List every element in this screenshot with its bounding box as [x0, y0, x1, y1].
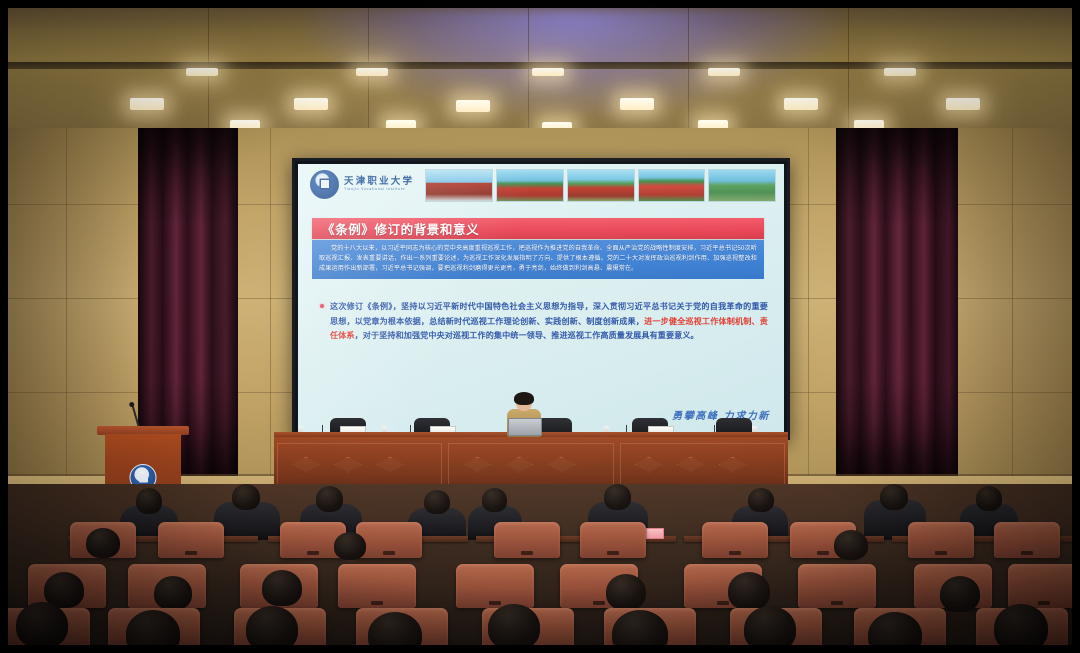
campus-photo-strip	[425, 169, 784, 200]
ceiling-lamp	[946, 98, 980, 110]
university-name-cn: 天津职业大学	[344, 177, 414, 187]
ceiling-lamp	[884, 68, 916, 76]
audience-head	[834, 530, 868, 560]
ceiling-seam	[848, 8, 849, 140]
head-table	[274, 432, 788, 492]
audience-head	[232, 484, 260, 510]
audience-head	[246, 606, 298, 645]
slide-title: 《条例》修订的背景和意义	[312, 219, 479, 238]
audience-seat	[994, 522, 1060, 558]
stage-curtain-left	[138, 128, 238, 476]
ceiling	[8, 8, 1072, 140]
audience-head	[86, 528, 120, 558]
slide-bullet-text: 这次修订《条例》，坚持以习近平新时代中国特色社会主义思想为指导，深入贯彻习近平总…	[330, 300, 768, 344]
ceiling-seam	[688, 8, 689, 140]
ceiling-lamp	[708, 68, 740, 76]
campus-photo-4	[638, 169, 706, 202]
audience-seat	[702, 522, 768, 558]
audience-head	[744, 606, 796, 645]
slide-intro-paragraph: 党的十八大以来，以习近平同志为核心的党中央高度重视巡视工作，把巡视作为推进党的自…	[319, 244, 757, 274]
audience-seat	[356, 522, 422, 558]
university-crest-icon	[310, 170, 339, 199]
slide-header: 天津职业大学 Tianjin Vocational Institute	[298, 164, 784, 204]
audience-head	[606, 574, 646, 610]
audience-area	[8, 484, 1072, 645]
bullet-segment-3: ，对于坚持和加强党中央对巡视工作的集中统一领导、推进巡视工作高质量发展具有重要意…	[355, 331, 699, 340]
presenter-hair	[514, 392, 534, 405]
audience-head	[488, 604, 540, 645]
university-name-en: Tianjin Vocational Institute	[344, 187, 414, 191]
ceiling-lamp	[130, 98, 164, 110]
presenter	[505, 394, 543, 438]
head-table-panel	[448, 443, 613, 486]
slide-bullet-block: 这次修订《条例》，坚持以习近平新时代中国特色社会主义思想为指导，深入贯彻习近平总…	[320, 300, 768, 344]
audience-seat	[580, 522, 646, 558]
ceiling-lamp	[294, 98, 328, 110]
stage-curtain-right	[836, 128, 958, 476]
campus-photo-5	[708, 169, 776, 202]
audience-head	[424, 490, 450, 514]
audience-head	[880, 484, 908, 510]
head-table-panel	[277, 443, 442, 486]
audience-head	[482, 488, 507, 512]
head-table-panel	[620, 443, 785, 486]
audience-seat	[338, 564, 416, 608]
ceiling-lamp	[784, 98, 818, 110]
audience-head	[748, 488, 774, 512]
audience-head	[604, 484, 631, 510]
audience-seat	[456, 564, 534, 608]
audience-nameplate	[646, 528, 664, 539]
auditorium-room: 天津职业大学 Tianjin Vocational Institute 《条例》…	[8, 8, 1072, 645]
ceiling-lamp	[456, 100, 490, 112]
ceiling-lamp	[186, 68, 218, 76]
audience-seat	[908, 522, 974, 558]
audience-head	[262, 570, 302, 606]
audience-seat	[494, 522, 560, 558]
slide-title-banner: 《条例》修订的背景和意义	[312, 218, 764, 239]
audience-head	[940, 576, 980, 612]
audience-head	[316, 486, 343, 512]
wall-seam	[270, 128, 271, 478]
audience-head	[136, 488, 162, 514]
campus-photo-3	[567, 169, 635, 202]
audience-head	[728, 572, 770, 610]
screenshot-root: 天津职业大学 Tianjin Vocational Institute 《条例》…	[0, 0, 1080, 653]
audience-seat	[798, 564, 876, 608]
screen-glare	[298, 164, 590, 434]
presenter-laptop	[508, 418, 542, 436]
slide-intro-box: 党的十八大以来，以习近平同志为核心的党中央高度重视巡视工作，把巡视作为推进党的自…	[312, 240, 764, 279]
wall-seam	[808, 128, 809, 478]
campus-photo-1	[425, 169, 493, 202]
ceiling-lamp	[532, 68, 564, 76]
ceiling-seam	[528, 8, 529, 140]
audience-seat	[1008, 564, 1072, 608]
campus-photo-2	[496, 169, 564, 202]
ceiling-lamp	[356, 68, 388, 76]
audience-seat	[158, 522, 224, 558]
audience-head	[16, 602, 68, 645]
audience-head	[334, 532, 366, 560]
audience-head	[976, 486, 1002, 511]
audience-head	[154, 576, 192, 610]
university-name: 天津职业大学 Tianjin Vocational Institute	[344, 177, 414, 191]
audience-head	[994, 604, 1048, 645]
ceiling-lamp	[620, 98, 654, 110]
bullet-dot-icon	[320, 304, 324, 308]
